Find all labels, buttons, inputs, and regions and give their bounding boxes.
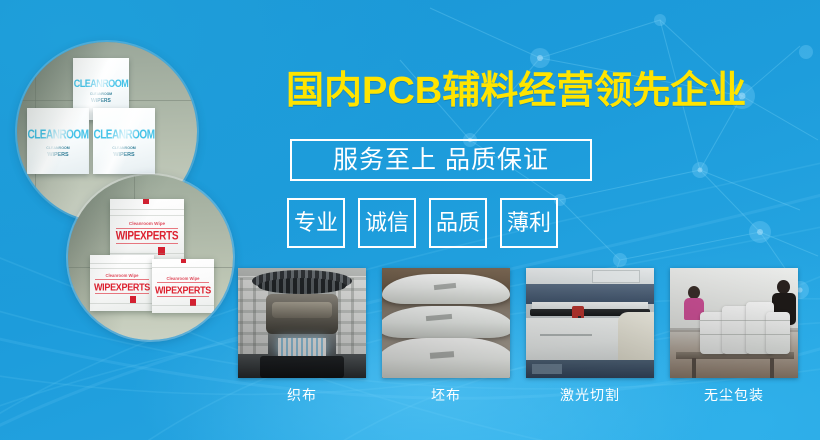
feature-tag-label: 品质 xyxy=(436,212,480,234)
banner-subtitle-box: 服务至上 品质保证 xyxy=(290,139,592,181)
banner-headline: 国内PCB辅料经营领先企业 xyxy=(286,72,746,110)
process-caption: 坯布 xyxy=(382,388,510,402)
process-item-greige-fabric[interactable]: 坯布 xyxy=(382,268,510,402)
process-item-cleanroom-packaging[interactable]: 无尘包装 xyxy=(670,268,798,402)
process-photo-laser-cutting xyxy=(526,268,654,378)
banner-subtitle-text: 服务至上 品质保证 xyxy=(333,148,549,173)
process-caption: 无尘包装 xyxy=(670,388,798,402)
feature-tag-label: 诚信 xyxy=(365,212,409,234)
feature-tag-list: 专业 诚信 品质 薄利 xyxy=(287,198,558,248)
process-caption: 激光切割 xyxy=(526,388,654,402)
feature-tag-pinzhi[interactable]: 品质 xyxy=(429,198,487,248)
feature-tag-baoli[interactable]: 薄利 xyxy=(500,198,558,248)
feature-tag-chengxin[interactable]: 诚信 xyxy=(358,198,416,248)
process-photo-cleanroom-packaging xyxy=(670,268,798,378)
process-photo-weaving xyxy=(238,268,366,378)
feature-tag-zhuanye[interactable]: 专业 xyxy=(287,198,345,248)
promo-banner: CLEANROOM CLEANROOM WIPERS CLEANROOM CLE… xyxy=(0,0,820,440)
process-caption: 织布 xyxy=(238,388,366,402)
process-item-weaving[interactable]: 织布 xyxy=(238,268,366,402)
feature-tag-label: 专业 xyxy=(294,212,338,234)
process-item-laser-cutting[interactable]: 激光切割 xyxy=(526,268,654,402)
process-photo-strip: 织布 坯布 xyxy=(238,268,798,402)
process-photo-greige-fabric xyxy=(382,268,510,378)
product-photo-wipexperts: Cleanroom Wipe WIPEXPERTS Cleanroom Wipe… xyxy=(68,175,233,340)
feature-tag-label: 薄利 xyxy=(507,212,551,234)
